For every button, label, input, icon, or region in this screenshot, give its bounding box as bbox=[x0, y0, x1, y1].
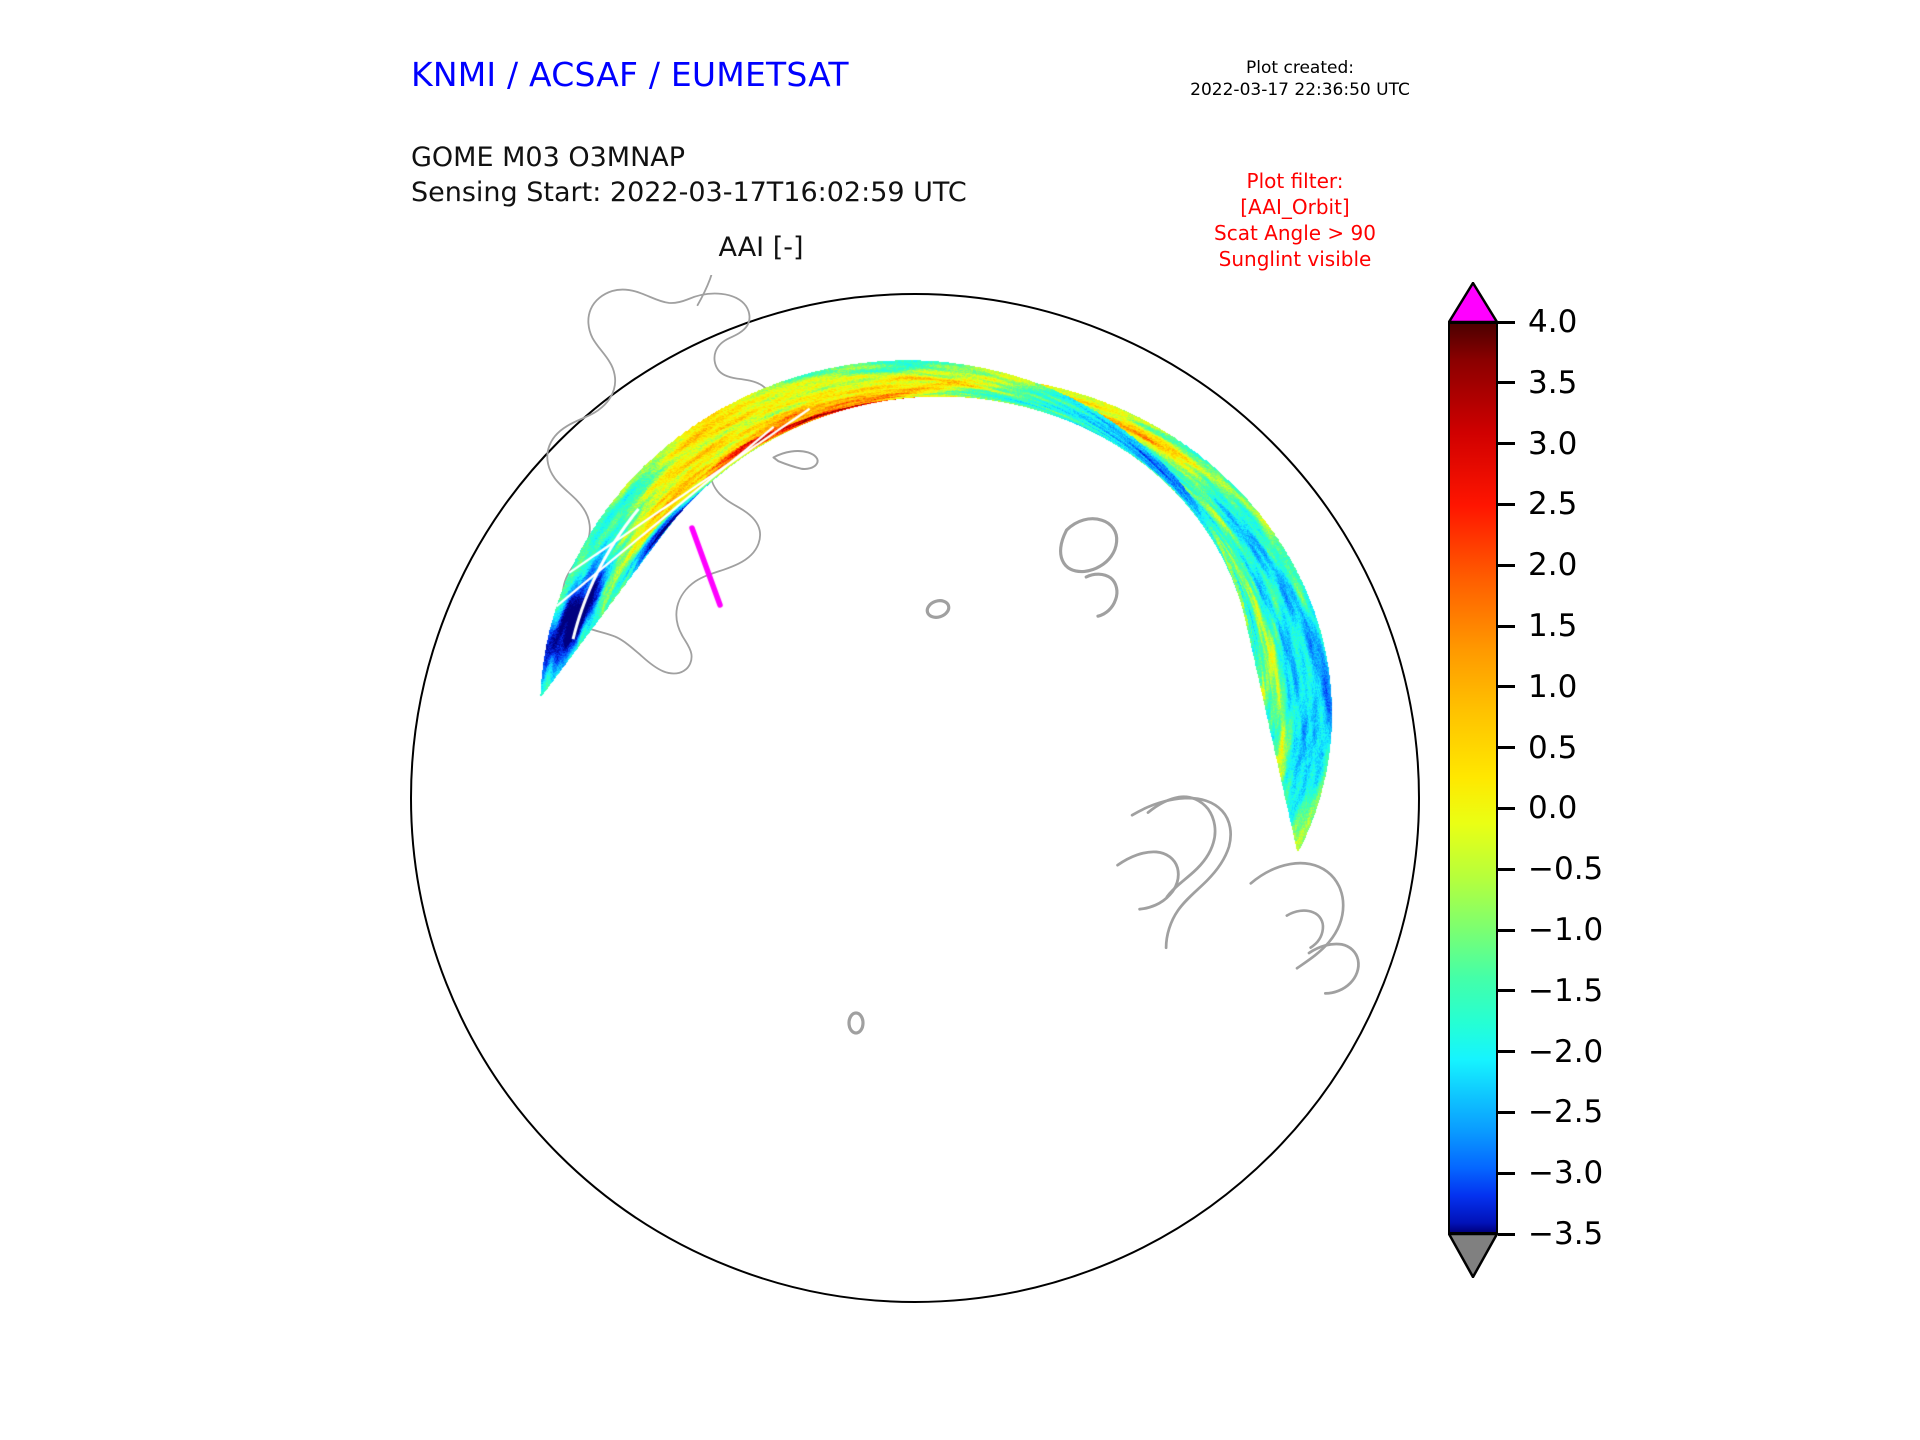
colorbar-tick-mark bbox=[1498, 321, 1515, 324]
plot-filter-line-3: Sunglint visible bbox=[1145, 246, 1445, 272]
colorbar-tick-mark bbox=[1498, 564, 1515, 567]
colorbar-tick-label: 0.5 bbox=[1528, 730, 1577, 766]
colorbar-tick-mark bbox=[1498, 625, 1515, 628]
organization-title: KNMI / ACSAF / EUMETSAT bbox=[411, 55, 849, 94]
colorbar-tick-mark bbox=[1498, 442, 1515, 445]
colorbar: 4.03.53.02.52.01.51.00.50.0−0.5−1.0−1.5−… bbox=[1448, 282, 1828, 1302]
colorbar-gradient bbox=[1448, 322, 1498, 1234]
colorbar-tick-label: 2.0 bbox=[1528, 547, 1577, 583]
colorbar-tick-mark bbox=[1498, 929, 1515, 932]
aai-swath-data bbox=[400, 275, 1440, 1335]
colorbar-tick-mark bbox=[1498, 868, 1515, 871]
plot-created-time: 2022-03-17 22:36:50 UTC bbox=[1155, 80, 1445, 102]
colorbar-tick-label: −2.5 bbox=[1528, 1094, 1603, 1130]
colorbar-tick-label: 3.0 bbox=[1528, 426, 1577, 462]
colorbar-tick-label: −3.5 bbox=[1528, 1216, 1603, 1252]
colorbar-tick-mark bbox=[1498, 1111, 1515, 1114]
colorbar-tick-label: −3.0 bbox=[1528, 1155, 1603, 1191]
plot-created-block: Plot created: 2022-03-17 22:36:50 UTC bbox=[1155, 58, 1445, 102]
colorbar-tick-label: −2.0 bbox=[1528, 1034, 1603, 1070]
instrument-title: GOME M03 O3MNAP bbox=[411, 140, 967, 175]
plot-created-label: Plot created: bbox=[1155, 58, 1445, 80]
colorbar-tick-mark bbox=[1498, 685, 1515, 688]
colorbar-over-range-outline bbox=[1448, 282, 1498, 323]
colorbar-tick-mark bbox=[1498, 746, 1515, 749]
colorbar-tick-label: 1.0 bbox=[1528, 669, 1577, 705]
plot-filter-line-2: Scat Angle > 90 bbox=[1145, 220, 1445, 246]
colorbar-tick-label: 2.5 bbox=[1528, 486, 1577, 522]
sensing-start-title: Sensing Start: 2022-03-17T16:02:59 UTC bbox=[411, 175, 967, 210]
colorbar-tick-mark bbox=[1498, 1050, 1515, 1053]
colorbar-tick-mark bbox=[1498, 1172, 1515, 1175]
colorbar-tick-label: 3.5 bbox=[1528, 365, 1577, 401]
colorbar-under-range-arrow bbox=[1448, 1232, 1498, 1278]
colorbar-tick-label: −1.5 bbox=[1528, 973, 1603, 1009]
plot-filter-line-1: [AAI_Orbit] bbox=[1145, 194, 1445, 220]
quantity-label: AAI [-] bbox=[411, 232, 1111, 263]
colorbar-tick-mark bbox=[1498, 381, 1515, 384]
plot-title-block: GOME M03 O3MNAP Sensing Start: 2022-03-1… bbox=[411, 140, 967, 210]
colorbar-tick-mark bbox=[1498, 503, 1515, 506]
colorbar-tick-label: 1.5 bbox=[1528, 608, 1577, 644]
colorbar-tick-label: 0.0 bbox=[1528, 790, 1577, 826]
colorbar-tick-label: −1.0 bbox=[1528, 912, 1603, 948]
polar-map bbox=[400, 275, 1440, 1335]
plot-filter-block: Plot filter: [AAI_Orbit] Scat Angle > 90… bbox=[1145, 168, 1445, 272]
colorbar-tick-mark bbox=[1498, 807, 1515, 810]
colorbar-tick-mark bbox=[1498, 1233, 1515, 1236]
plot-filter-line-0: Plot filter: bbox=[1145, 168, 1445, 194]
colorbar-tick-label: −0.5 bbox=[1528, 851, 1603, 887]
colorbar-tick-label: 4.0 bbox=[1528, 304, 1577, 340]
colorbar-tick-mark bbox=[1498, 989, 1515, 992]
